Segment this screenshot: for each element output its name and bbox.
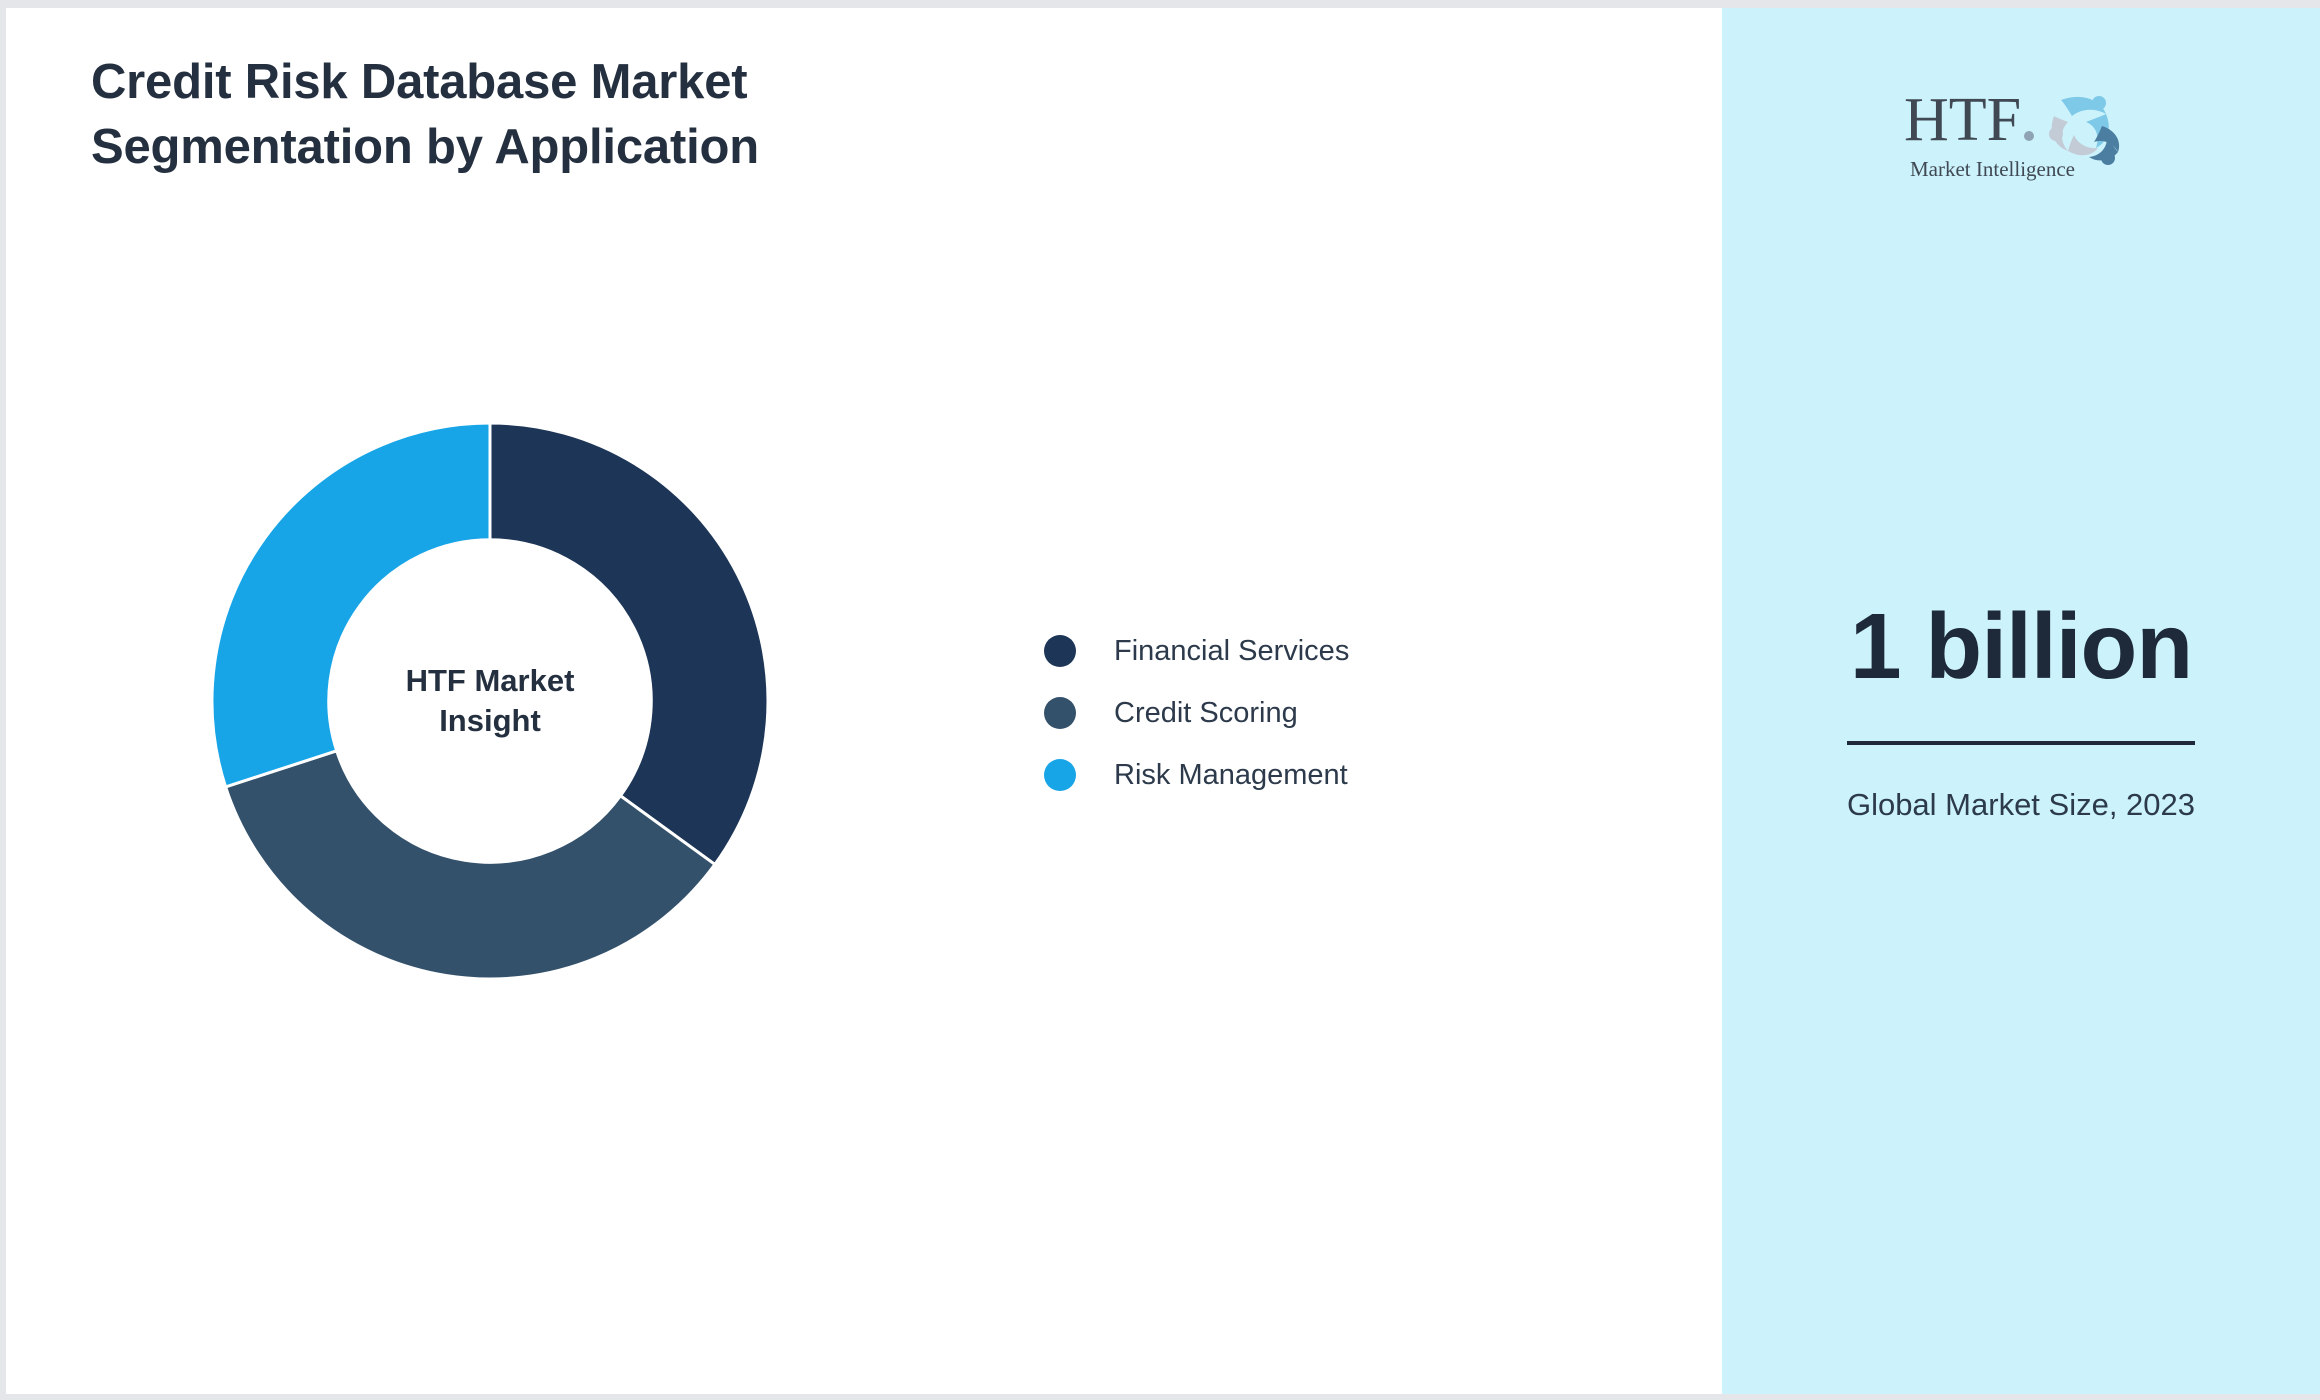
htf-logo: HTF Market Intelligence: [1896, 78, 2146, 183]
legend-dot-icon: [1044, 759, 1076, 791]
donut-slice: [212, 423, 490, 787]
donut-chart: HTF Market Insight: [205, 416, 775, 986]
donut-slice-group: [212, 423, 768, 979]
stat-divider: [1847, 741, 2195, 745]
legend-item: Credit Scoring: [1044, 682, 1349, 744]
htf-dot-icon: [2024, 131, 2034, 141]
donut-chart-svg: [205, 416, 775, 986]
stat-value: 1 billion: [1722, 598, 2320, 696]
legend-item: Risk Management: [1044, 744, 1349, 806]
legend-dot-icon: [1044, 697, 1076, 729]
htf-wordmark-text: HTF: [1904, 86, 2021, 154]
legend-item-label: Risk Management: [1114, 759, 1348, 792]
htf-logo-svg: HTF Market Intelligence: [1896, 78, 2146, 183]
infographic-canvas: Credit Risk Database Market Segmentation…: [0, 0, 2320, 1400]
legend-item: Financial Services: [1044, 620, 1349, 682]
legend-dot-icon: [1044, 635, 1076, 667]
legend-item-label: Financial Services: [1114, 635, 1349, 668]
main-content-area: Credit Risk Database Market Segmentation…: [6, 8, 1722, 1400]
donut-slice: [490, 423, 768, 864]
page-title: Credit Risk Database Market Segmentation…: [91, 50, 991, 180]
stat-block: 1 billion Global Market Size, 2023: [1722, 598, 2320, 828]
stat-caption: Global Market Size, 2023: [1722, 783, 2320, 828]
legend-item-label: Credit Scoring: [1114, 697, 1298, 730]
side-panel: HTF Market Intelligence: [1722, 8, 2320, 1400]
htf-swirl-people-icon: [2049, 96, 2119, 165]
chart-legend: Financial ServicesCredit ScoringRisk Man…: [1044, 620, 1349, 806]
htf-tagline-text: Market Intelligence: [1910, 157, 2075, 181]
